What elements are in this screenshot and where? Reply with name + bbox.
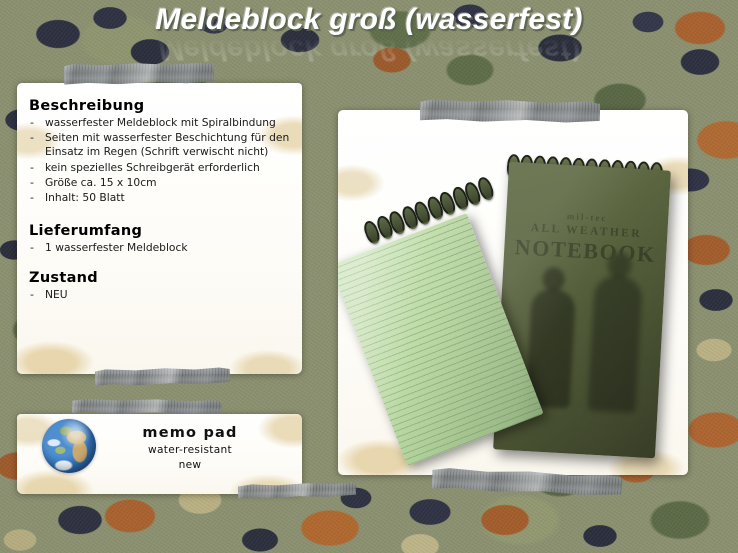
spacer xyxy=(29,256,297,270)
description-heading: Beschreibung xyxy=(29,98,297,114)
list-item: kein spezielles Schreibgerät erforderlic… xyxy=(29,161,297,175)
duct-tape-strip xyxy=(64,62,214,85)
list-item: wasserfester Meldeblock mit Spiralbindun… xyxy=(29,116,297,130)
condition-heading: Zustand xyxy=(29,270,297,286)
list-item: Größe ca. 15 x 10cm xyxy=(29,176,297,190)
description-content: Beschreibung wasserfester Meldeblock mit… xyxy=(29,98,297,304)
memo-title: memo pad xyxy=(110,424,270,443)
product-photo-stage: mil-tec ALL WEATHER NOTEBOOK xyxy=(338,110,688,475)
memo-subtitle-new: new xyxy=(110,458,270,473)
delivery-heading: Lieferumfang xyxy=(29,223,297,239)
globe-icon xyxy=(42,419,96,473)
delivery-list: 1 wasserfester Meldeblock xyxy=(29,241,297,255)
list-item: NEU xyxy=(29,288,297,302)
list-item: Inhalt: 50 Blatt xyxy=(29,191,297,205)
duct-tape-strip xyxy=(95,367,230,386)
list-item: Seiten mit wasserfester Beschichtung für… xyxy=(29,131,297,159)
list-item: 1 wasserfester Meldeblock xyxy=(29,241,297,255)
memo-subtitle-water-resistant: water-resistant xyxy=(110,443,270,458)
memo-summary-text: memo pad water-resistant new xyxy=(110,424,270,473)
condition-list: NEU xyxy=(29,288,297,302)
spacer xyxy=(29,206,297,223)
description-list: wasserfester Meldeblock mit Spiralbindun… xyxy=(29,116,297,205)
